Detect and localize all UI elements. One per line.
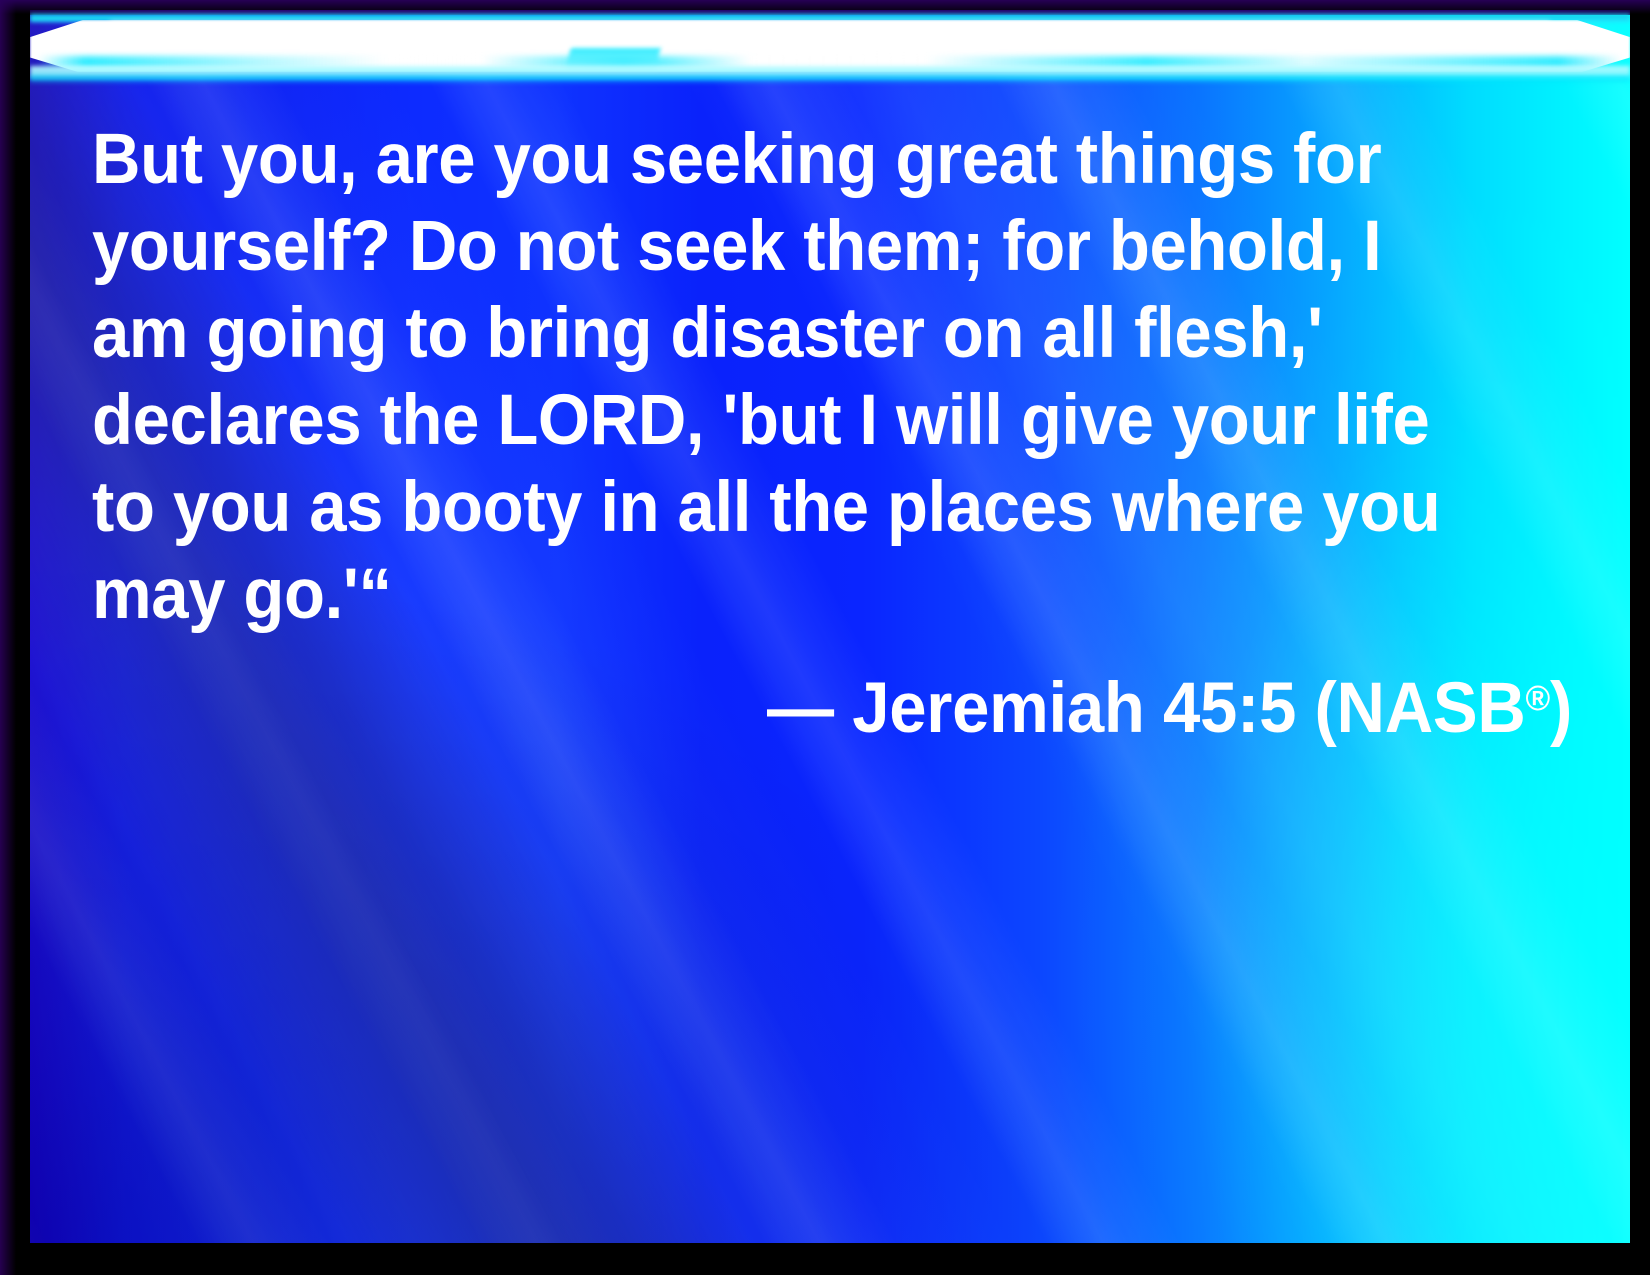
verse-attribution: — Jeremiah 45:5 (NASB®) bbox=[173, 638, 1572, 749]
attribution-prefix: — Jeremiah 45:5 (NASB bbox=[767, 669, 1525, 748]
slide-canvas: But you, are you seeking great things fo… bbox=[0, 0, 1650, 1275]
slide-body: But you, are you seeking great things fo… bbox=[30, 10, 1630, 1243]
verse-text: But you, are you seeking great things fo… bbox=[92, 116, 1491, 638]
registered-trademark-icon: ® bbox=[1526, 678, 1550, 718]
verse-block: But you, are you seeking great things fo… bbox=[92, 116, 1572, 749]
attribution-suffix: ) bbox=[1550, 669, 1572, 748]
